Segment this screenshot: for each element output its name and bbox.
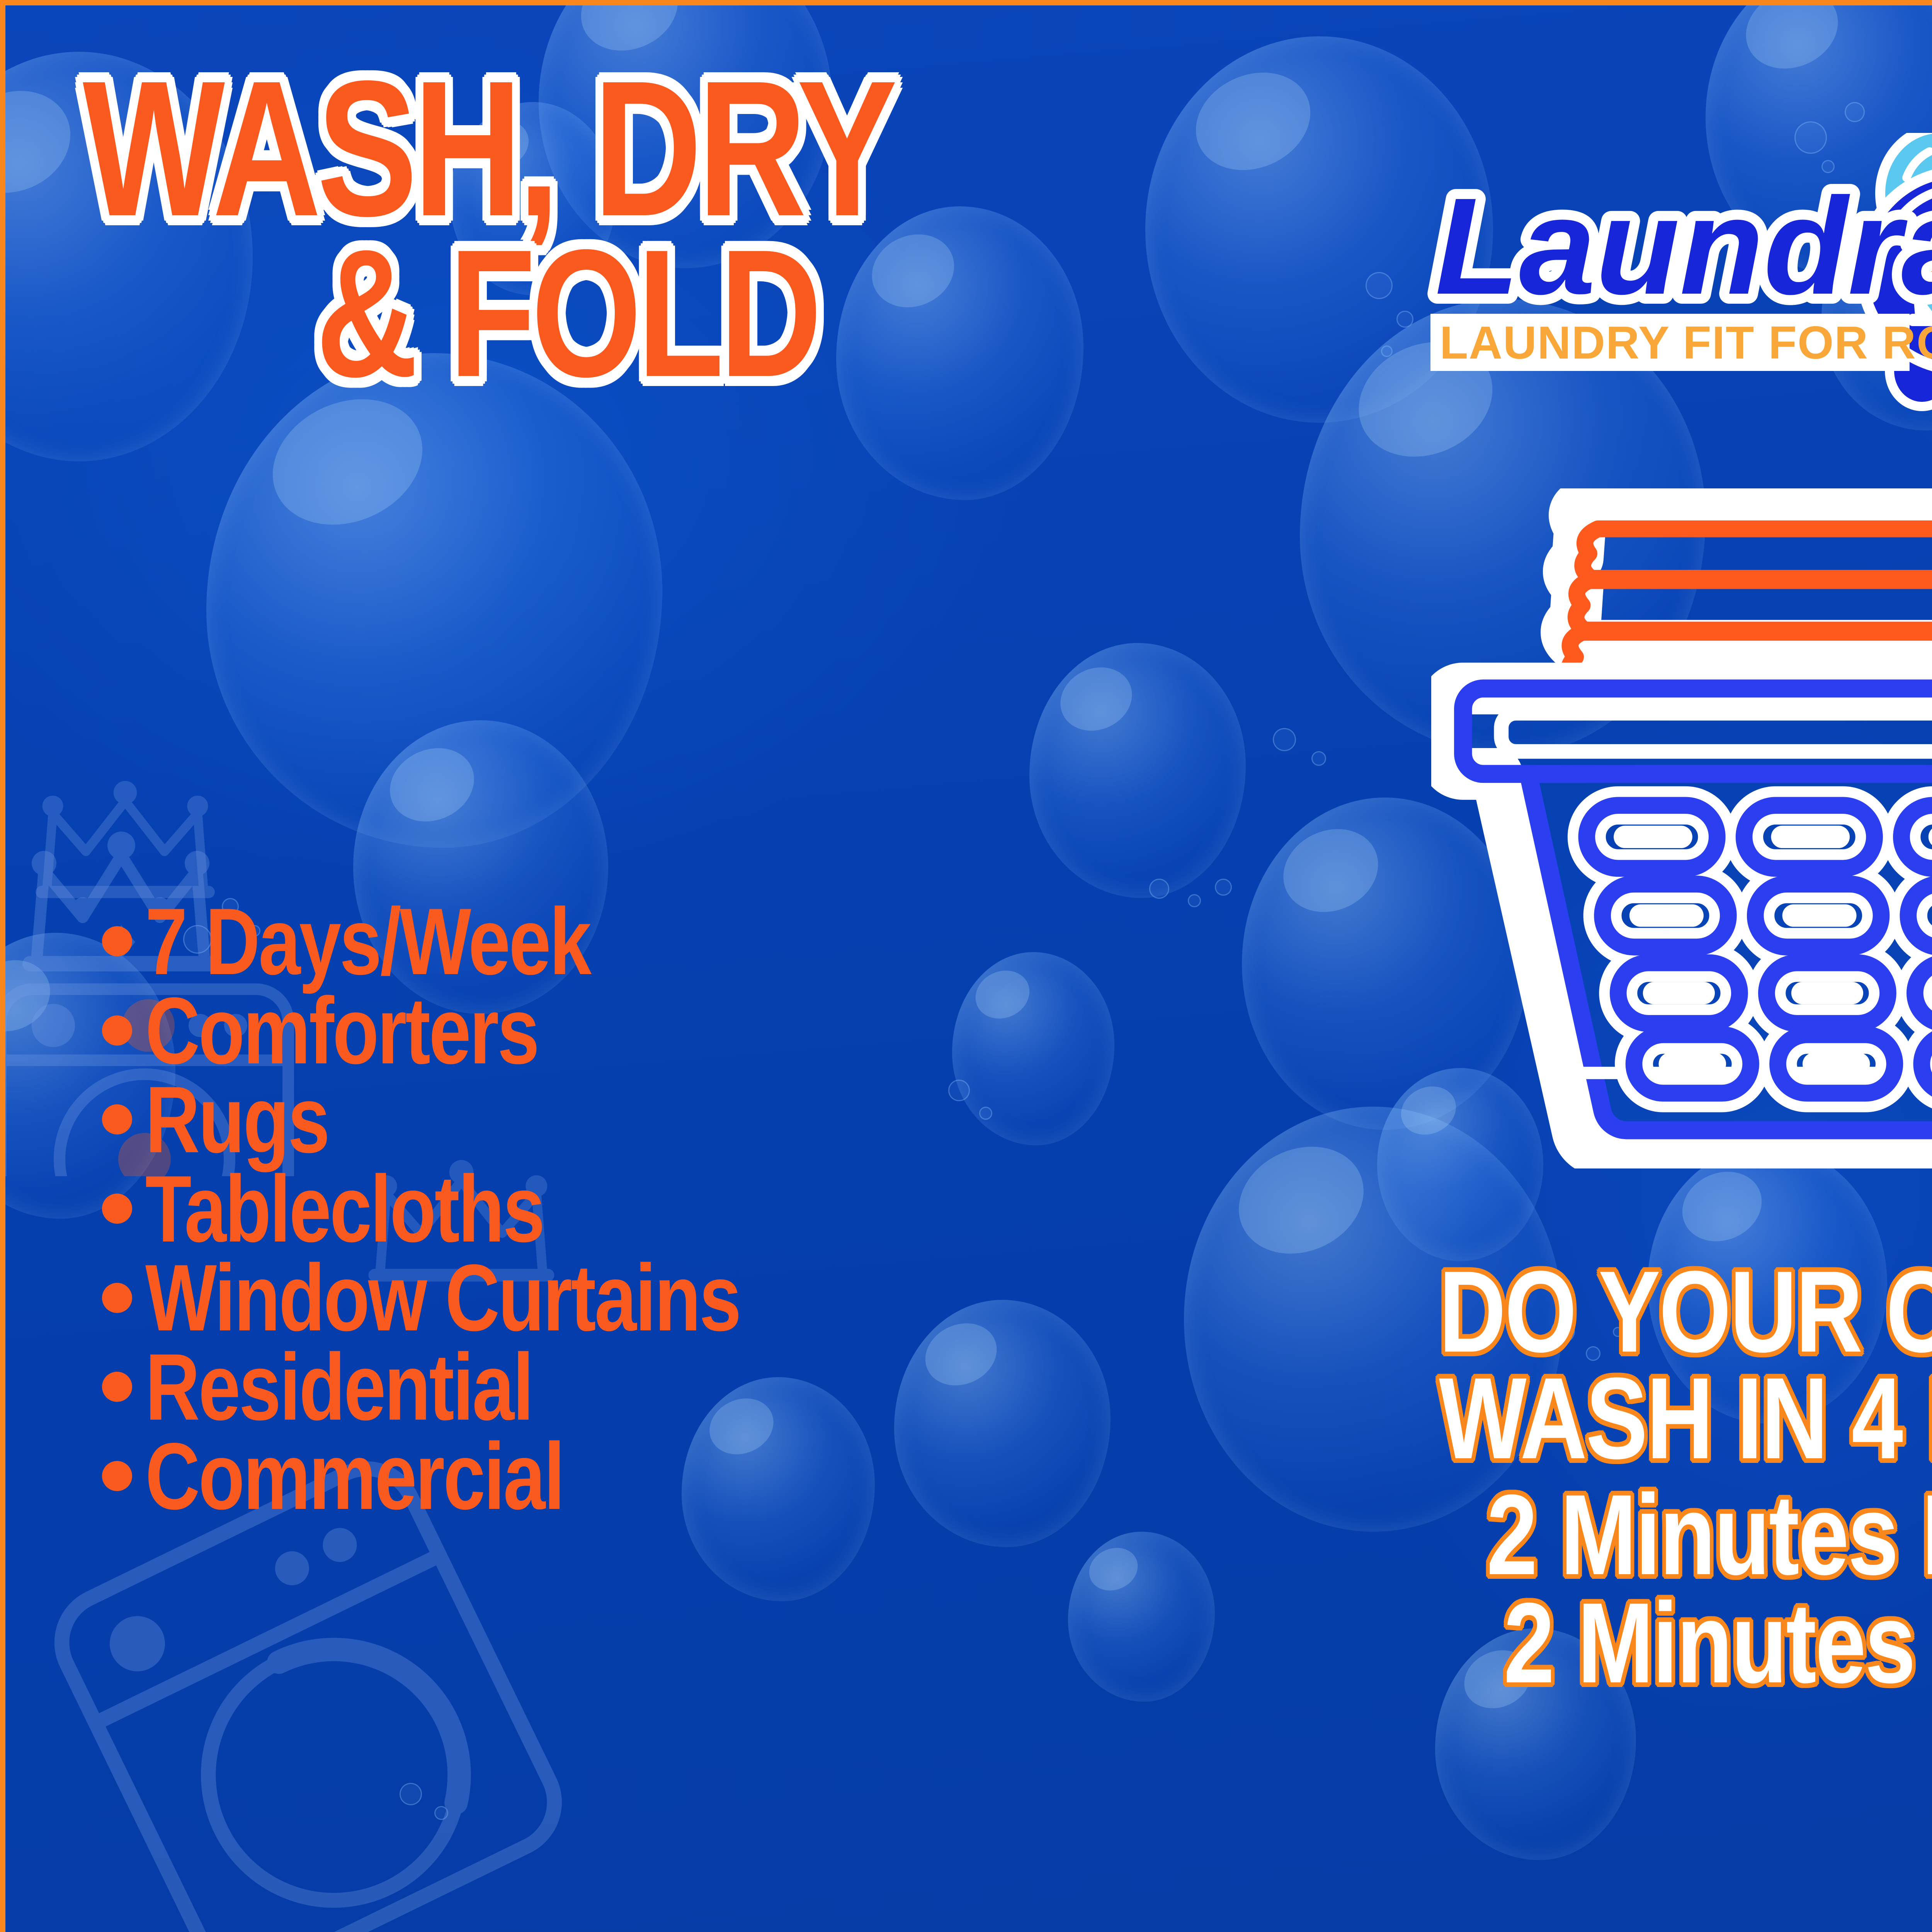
bubble-small — [1311, 751, 1326, 766]
promo-line-3: 2 Minutes Drop-Off — [1439, 1478, 1932, 1592]
crown-watermark — [1918, 1879, 1932, 1932]
bubble — [1029, 643, 1246, 898]
folded-towels — [1566, 502, 1932, 680]
service-label: Commercial — [145, 1425, 563, 1527]
bullet-dot-icon — [102, 1015, 132, 1046]
logo-word-laundra: Laundra — [1435, 170, 1932, 323]
services-list: 7 Days/Week Comforters Rugs Tablecloths … — [102, 890, 1377, 1514]
bullet-dot-icon — [102, 1372, 132, 1402]
brand-logo[interactable]: .lw{font-family:"Liberation Sans", sans-… — [1420, 133, 1932, 411]
poster-root: WASH, DRY & FOLD 7 Days/Week Comforters … — [0, 0, 1932, 1932]
bubble-small — [1845, 102, 1865, 122]
bullet-dot-icon — [102, 926, 132, 956]
bullet-dot-icon — [102, 1194, 132, 1224]
headline-line-1: WASH, DRY — [83, 63, 1138, 233]
headline: WASH, DRY & FOLD — [83, 63, 1435, 393]
bullet-dot-icon — [102, 1461, 132, 1491]
bubble-small — [1273, 728, 1296, 751]
promo-line-2: WASH IN 4 MINUTES!!! — [1439, 1360, 1932, 1476]
list-item: Commercial — [102, 1425, 1377, 1527]
logo-tagline: LAUNDRY FIT FOR ROYALTY — [1440, 317, 1932, 369]
headline-line-2: & FOLD — [316, 233, 1371, 393]
bullet-dot-icon — [102, 1283, 132, 1313]
laundry-basket-illustration — [1431, 488, 1932, 1168]
basket-rim-inner-line — [1501, 713, 1932, 752]
promo-block: DO YOUR COMPLETE WASH IN 4 MINUTES!!! 2 … — [1327, 1253, 1932, 1700]
promo-line-4: 2 Minutes Pick-Up — [1439, 1586, 1932, 1700]
promo-line-1: DO YOUR COMPLETE — [1439, 1253, 1932, 1369]
bullet-dot-icon — [102, 1104, 132, 1134]
bubble — [1068, 1532, 1215, 1702]
